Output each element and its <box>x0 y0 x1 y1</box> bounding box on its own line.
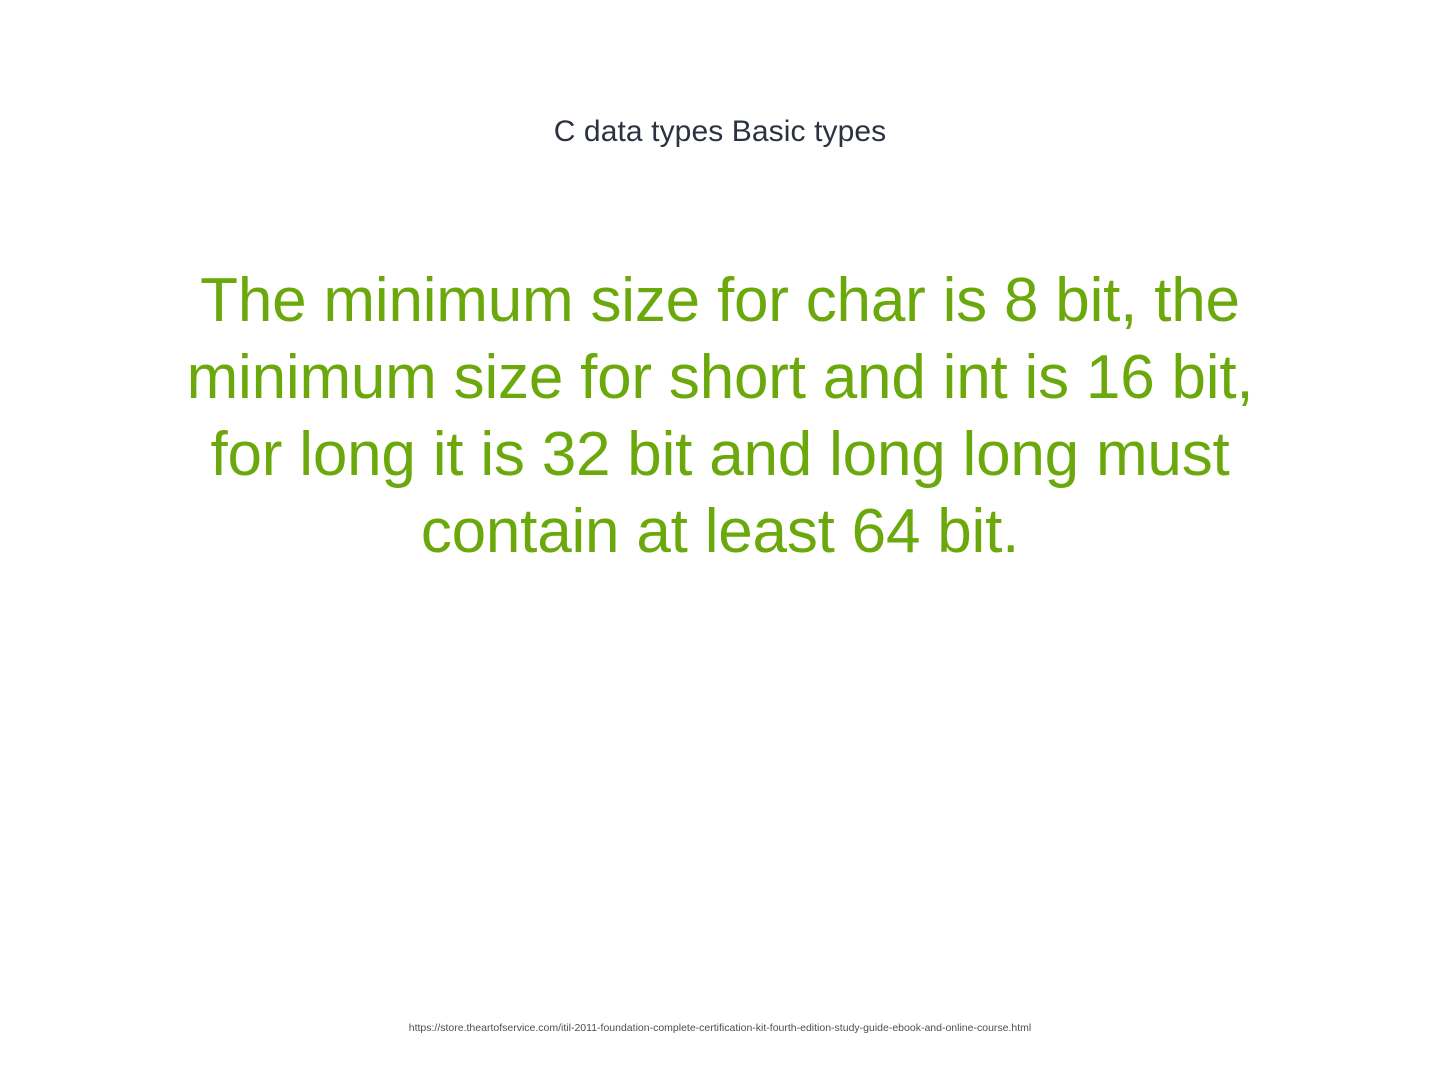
page-title: C data types Basic types <box>0 113 1440 151</box>
slide-body: The minimum size for char is 8 bit, the … <box>160 262 1280 570</box>
body-paragraph: The minimum size for char is 8 bit, the … <box>160 262 1280 570</box>
footer-source-url[interactable]: https://store.theartofservice.com/itil-2… <box>0 1022 1440 1036</box>
slide-canvas: C data types Basic types The minimum siz… <box>0 0 1440 1080</box>
